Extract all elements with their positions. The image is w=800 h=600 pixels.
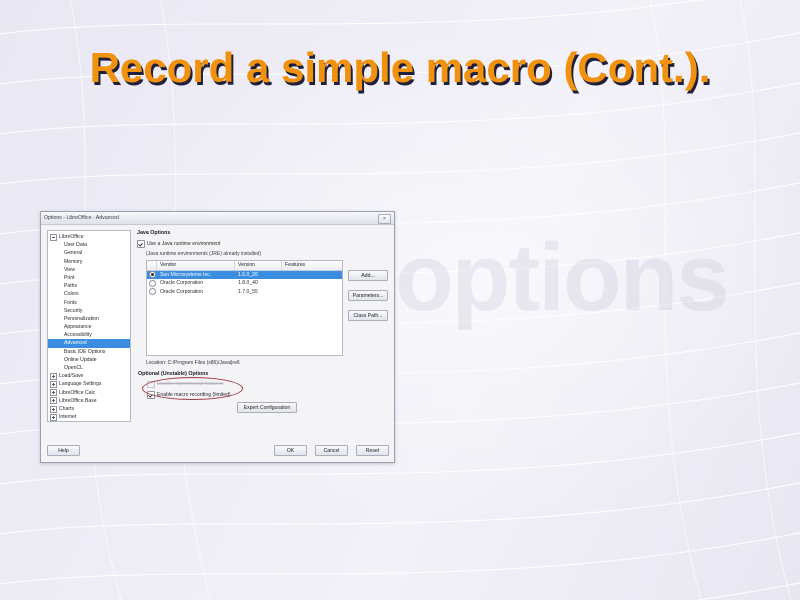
tree-item-label: Security	[64, 307, 82, 315]
tree-item-label: Memory	[64, 258, 82, 266]
cell-vendor: Oracle Corporation	[157, 288, 235, 297]
tree-item-online-update[interactable]: Online Update	[48, 356, 130, 364]
reset-button[interactable]: Reset	[356, 445, 389, 456]
cell-version: 1.7.0_55	[235, 288, 282, 297]
optional-options-block: Optional (Unstable) Options Enable exper…	[138, 371, 390, 413]
tree-item-internet[interactable]: Internet	[48, 413, 130, 421]
experimental-features-row[interactable]: Enable experimental features	[147, 381, 390, 389]
background-watermark-text: options	[395, 218, 785, 338]
tree-item-label: Internet	[59, 413, 76, 421]
tree-item-label: Language Settings	[59, 380, 101, 388]
tree-item-libreoffice-calc[interactable]: LibreOffice Calc	[48, 389, 130, 397]
tree-item-security[interactable]: Security	[48, 307, 130, 315]
table-row[interactable]: Oracle Corporation1.7.0_55	[147, 288, 342, 297]
tree-item-label: Personalization	[64, 315, 99, 323]
tree-item-label: Colors	[64, 290, 79, 298]
tree-item-fonts[interactable]: Fonts	[48, 299, 130, 307]
tree-item-print[interactable]: Print	[48, 274, 130, 282]
collapse-icon[interactable]	[50, 234, 57, 241]
expand-icon[interactable]	[50, 406, 57, 413]
jre-table[interactable]: Vendor Version Features Sun Microsystems…	[146, 260, 343, 356]
jre-area: Vendor Version Features Sun Microsystems…	[146, 260, 390, 356]
radio-icon[interactable]	[149, 288, 156, 295]
tree-item-personalization[interactable]: Personalization	[48, 315, 130, 323]
macro-recording-checkbox[interactable]	[147, 391, 155, 399]
options-category-tree[interactable]: LibreOfficeUser DataGeneralMemoryViewPri…	[47, 230, 131, 422]
radio-icon[interactable]	[149, 271, 156, 278]
tree-item-advanced[interactable]: Advanced	[48, 339, 130, 347]
expert-configuration-button[interactable]: Expert Configuration	[237, 402, 297, 413]
tree-item-label: Print	[64, 274, 74, 282]
installed-jre-note: (Java runtime environments (JRE) already…	[146, 251, 390, 257]
tree-item-charts[interactable]: Charts	[48, 405, 130, 413]
java-options-panel: Java Options Use a Java runtime environm…	[137, 230, 390, 462]
use-jre-label: Use a Java runtime environment	[147, 241, 220, 247]
jre-table-header: Vendor Version Features	[147, 261, 342, 271]
expand-icon[interactable]	[50, 389, 57, 396]
macro-recording-row[interactable]: Enable macro recording (limited)	[147, 391, 390, 399]
dialog-button-bar: Help OK Cancel Reset	[47, 445, 389, 456]
ok-button[interactable]: OK	[274, 445, 307, 456]
tree-item-label: Fonts	[64, 299, 77, 307]
use-jre-checkbox[interactable]	[137, 240, 145, 248]
class-path-button[interactable]: Class Path...	[348, 310, 388, 321]
tree-item-opencl[interactable]: OpenCL	[48, 364, 130, 372]
dialog-body: LibreOfficeUser DataGeneralMemoryViewPri…	[41, 225, 394, 462]
macro-recording-label: Enable macro recording (limited)	[157, 392, 231, 398]
help-button[interactable]: Help	[47, 445, 80, 456]
cell-vendor: Oracle Corporation	[157, 279, 235, 288]
tree-item-libreoffice[interactable]: LibreOffice	[48, 233, 130, 241]
close-icon-glyph: ×	[383, 217, 386, 222]
table-row[interactable]: Oracle Corporation1.8.0_40	[147, 279, 342, 288]
tree-item-general[interactable]: General	[48, 249, 130, 257]
close-icon[interactable]: ×	[378, 214, 391, 224]
expand-icon[interactable]	[50, 381, 57, 388]
tree-item-view[interactable]: View	[48, 266, 130, 274]
tree-item-memory[interactable]: Memory	[48, 258, 130, 266]
table-row[interactable]: Sun Microsystems Inc.1.6.0_26	[147, 271, 342, 280]
expand-icon[interactable]	[50, 397, 57, 404]
tree-item-label: Paths	[64, 282, 77, 290]
slide: options Record a simple macro (Cont.). O…	[0, 0, 800, 600]
expand-icon[interactable]	[50, 373, 57, 380]
tree-item-label: Online Update	[64, 356, 97, 364]
optional-options-heading: Optional (Unstable) Options	[138, 371, 390, 377]
tree-item-label: General	[64, 249, 82, 257]
tree-item-basic-ide-options[interactable]: Basic IDE Options	[48, 348, 130, 356]
add-button[interactable]: Add...	[348, 270, 388, 281]
column-header-select	[147, 261, 157, 270]
tree-item-colors[interactable]: Colors	[48, 290, 130, 298]
tree-item-appearance[interactable]: Appearance	[48, 323, 130, 331]
cancel-button[interactable]: Cancel	[315, 445, 348, 456]
jre-location-text: Location: C:/Program Files (x86)/Java/jr…	[146, 360, 390, 366]
tree-item-label: Load/Save	[59, 372, 83, 380]
tree-item-label: Charts	[59, 405, 74, 413]
jre-select-cell[interactable]	[147, 271, 157, 278]
column-header-version: Version	[235, 261, 282, 270]
experimental-features-label: Enable experimental features	[157, 381, 223, 387]
radio-icon[interactable]	[149, 280, 156, 287]
tree-item-libreoffice-base[interactable]: LibreOffice Base	[48, 397, 130, 405]
tree-item-accessibility[interactable]: Accessibility	[48, 331, 130, 339]
cell-version: 1.6.0_26	[235, 271, 282, 280]
cell-version: 1.8.0_40	[235, 279, 282, 288]
dialog-titlebar: Options - LibreOffice - Advanced ×	[41, 212, 394, 225]
tree-item-label: View	[64, 266, 75, 274]
use-jre-checkbox-row[interactable]: Use a Java runtime environment	[137, 240, 390, 248]
tree-item-label: User Data	[64, 241, 87, 249]
cell-vendor: Sun Microsystems Inc.	[157, 271, 235, 280]
expert-configuration-row: Expert Configuration	[237, 402, 390, 413]
experimental-features-checkbox[interactable]	[147, 381, 155, 389]
tree-item-label: OpenCL	[64, 364, 83, 372]
java-options-heading: Java Options	[137, 230, 390, 236]
jre-action-buttons: Add... Parameters... Class Path...	[348, 260, 388, 356]
options-dialog: Options - LibreOffice - Advanced × Libre…	[40, 211, 395, 463]
tree-item-label: Appearance	[64, 323, 91, 331]
tree-item-language-settings[interactable]: Language Settings	[48, 380, 130, 388]
column-header-features: Features	[282, 261, 342, 270]
tree-item-label: Accessibility	[64, 331, 92, 339]
tree-item-paths[interactable]: Paths	[48, 282, 130, 290]
tree-item-label: Basic IDE Options	[64, 348, 105, 356]
dialog-confirm-buttons: OK Cancel Reset	[274, 445, 389, 456]
parameters-button[interactable]: Parameters...	[348, 290, 388, 301]
tree-item-label: LibreOffice	[59, 233, 84, 241]
jre-table-body: Sun Microsystems Inc.1.6.0_26Oracle Corp…	[147, 271, 342, 297]
tree-item-label: LibreOffice Base	[59, 397, 97, 405]
tree-item-load-save[interactable]: Load/Save	[48, 372, 130, 380]
expand-icon[interactable]	[50, 414, 57, 421]
column-header-vendor: Vendor	[157, 261, 235, 270]
tree-item-label: Advanced	[64, 339, 87, 347]
tree-item-user-data[interactable]: User Data	[48, 241, 130, 249]
jre-select-cell[interactable]	[147, 288, 157, 295]
jre-select-cell[interactable]	[147, 280, 157, 287]
page-title: Record a simple macro (Cont.).	[0, 44, 800, 92]
tree-item-label: LibreOffice Calc	[59, 389, 95, 397]
dialog-title: Options - LibreOffice - Advanced	[44, 215, 119, 221]
